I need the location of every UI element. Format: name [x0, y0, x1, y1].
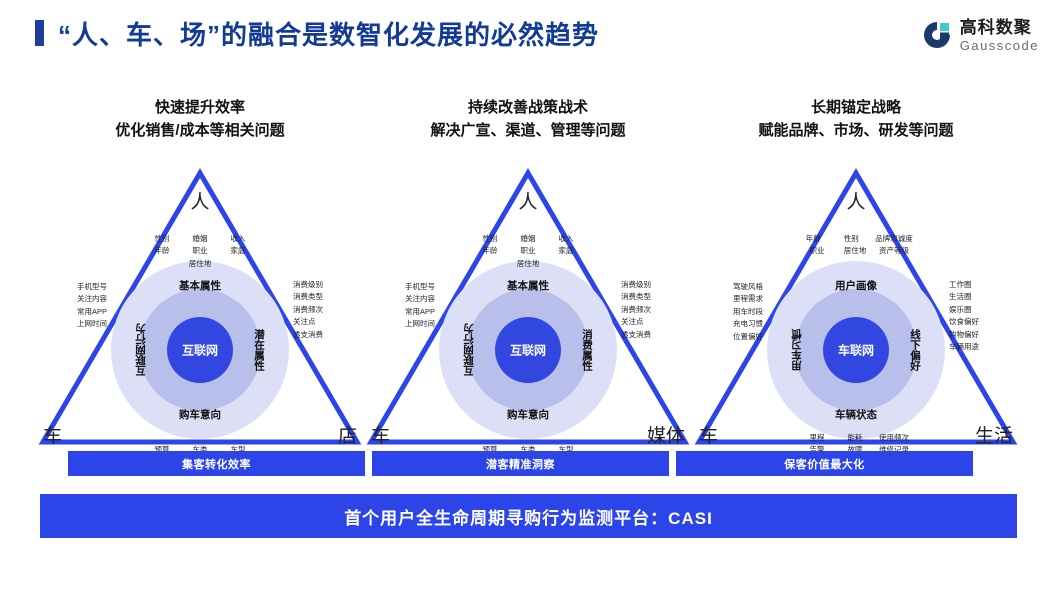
triangle-diagram-1: 人 车 店 互联网 基本属性 购车意向 互联网行为 潜在属性 互联网 性别婚姻收…	[35, 165, 365, 450]
ring-core-label-1: 互联网	[182, 342, 218, 359]
column-heading-2-line1: 持续改善战策战术	[363, 96, 693, 119]
tag-item: 上网时间	[77, 318, 107, 330]
tag-item: 关注内容	[77, 293, 107, 305]
column-heading-2: 持续改善战策战术 解决广宣、渠道、管理等问题	[363, 96, 693, 143]
column-heading-1-line2: 优化销售/成本等相关问题	[35, 119, 365, 142]
triangle-2-corner-top: 人	[518, 187, 537, 214]
tags-right-2: 消费级别消费类型消费频次关注点透支消费	[621, 279, 651, 341]
tag-item: 消费类型	[621, 291, 651, 303]
column-heading-3: 长期锚定战略 赋能品牌、市场、研发等问题	[691, 96, 1021, 143]
tag-item: 年龄	[476, 245, 504, 257]
triangle-1-corner-bottom-right: 店	[338, 421, 357, 448]
outcome-bar-1: 集客转化效率	[68, 451, 365, 476]
tag-item: 上网时间	[405, 318, 435, 330]
page-header: “人、车、场”的融合是数智化发展的必然趋势 高科数聚 Gausscode	[0, 0, 1057, 62]
tag-item: 充电习惯	[733, 318, 763, 330]
tag-item: 手机型号	[405, 281, 435, 293]
tag-item: 性别	[148, 233, 176, 245]
tag-item: 品牌忠诚度	[875, 233, 913, 245]
tag-item: 消费类型	[293, 291, 323, 303]
tag-row: 居住地	[143, 258, 257, 270]
tag-item: 家庭	[224, 245, 252, 257]
gausscode-logo-icon	[921, 19, 953, 51]
tag-item: 里程	[803, 432, 831, 444]
column-heading-3-line1: 长期锚定战略	[691, 96, 1021, 119]
ring-label-left-3: 用车习惯	[789, 329, 804, 371]
tag-item: 消费级别	[621, 279, 651, 291]
concentric-rings-2: 互联网 基本属性 购车意向 互联网行为 消费属性 互联网 性别婚姻收入年龄职业家…	[439, 261, 617, 439]
ring-label-left-2: 互联网行为	[461, 324, 476, 377]
column-heading-1-line1: 快速提升效率	[35, 96, 365, 119]
title-accent-bar	[35, 20, 44, 46]
tag-item: 性别	[476, 233, 504, 245]
tags-top-2: 性别婚姻收入年龄职业家庭居住地	[471, 233, 585, 270]
ring-label-right-1: 潜在属性	[252, 329, 267, 371]
tag-item: 常用APP	[405, 306, 435, 318]
tag-item: 职业	[514, 245, 542, 257]
tags-right-3: 工作圈生活圈娱乐圈饮食偏好购物偏好车辆用途	[949, 279, 979, 353]
triangle-3-corner-top: 人	[846, 187, 865, 214]
column-heading-1: 快速提升效率 优化销售/成本等相关问题	[35, 96, 365, 143]
tag-row: 居住地	[471, 258, 585, 270]
ring-core-label-2: 互联网	[510, 342, 546, 359]
tag-item: 职业	[186, 245, 214, 257]
tag-item: 年龄	[799, 233, 827, 245]
tag-item: 饮食偏好	[949, 316, 979, 328]
tag-row: 年龄职业家庭	[143, 245, 257, 257]
tag-item: 娱乐圈	[949, 304, 979, 316]
tag-row: 职业居住地资产等级	[794, 245, 918, 257]
ring-label-right-3: 线下偏好	[908, 329, 923, 371]
tag-item: 居住地	[514, 258, 542, 270]
tag-item: 关注内容	[405, 293, 435, 305]
tags-left-3: 驾驶风格里程需求用车时段充电习惯位置偏好	[733, 281, 763, 343]
triangle-3-corner-bottom-left: 车	[699, 421, 718, 448]
tag-item: 透支消费	[293, 329, 323, 341]
tag-item: 关注点	[621, 316, 651, 328]
tag-item: 年龄	[148, 245, 176, 257]
tag-item: 能耗	[841, 432, 869, 444]
tag-item: 职业	[803, 245, 831, 257]
tag-item: 使用频次	[879, 432, 909, 444]
column-heading-2-line2: 解决广宣、渠道、管理等问题	[363, 119, 693, 142]
ring-label-left-1: 互联网行为	[133, 324, 148, 377]
ring-label-right-2: 消费属性	[580, 329, 595, 371]
tag-item: 用车时段	[733, 306, 763, 318]
triangle-2-corner-bottom-left: 车	[371, 421, 390, 448]
tag-item: 里程需求	[733, 293, 763, 305]
logo-name-cn: 高科数聚	[960, 19, 1039, 36]
tag-item: 关注点	[293, 316, 323, 328]
tag-item: 消费频次	[621, 304, 651, 316]
tag-item: 家庭	[552, 245, 580, 257]
tag-row: 里程能耗使用频次	[798, 432, 914, 444]
tag-item: 性别	[837, 233, 865, 245]
column-headings: 快速提升效率 优化销售/成本等相关问题 持续改善战策战术 解决广宣、渠道、管理等…	[0, 96, 1057, 152]
logo-name-en: Gausscode	[960, 39, 1039, 52]
ring-label-top-3: 用户画像	[835, 278, 877, 293]
triangle-diagram-2: 人 车 媒体 互联网 基本属性 购车意向 互联网行为 消费属性 互联网 性别婚姻…	[363, 165, 693, 450]
tag-item: 资产等级	[879, 245, 909, 257]
tag-item: 透支消费	[621, 329, 651, 341]
platform-banner: 首个用户全生命周期寻购行为监测平台：CASI	[40, 494, 1017, 538]
outcome-bar-2: 潜客精准洞察	[372, 451, 669, 476]
tag-item: 购物偏好	[949, 329, 979, 341]
tag-item: 驾驶风格	[733, 281, 763, 293]
tag-item: 手机型号	[77, 281, 107, 293]
tags-top-3: 年龄性别品牌忠诚度职业居住地资产等级	[794, 233, 918, 258]
page-title: “人、车、场”的融合是数智化发展的必然趋势	[58, 15, 599, 52]
tag-item: 居住地	[841, 245, 869, 257]
tag-item: 消费频次	[293, 304, 323, 316]
tag-item: 工作圈	[949, 279, 979, 291]
tag-row: 年龄职业家庭	[471, 245, 585, 257]
triangle-1-corner-top: 人	[190, 187, 209, 214]
ring-label-top-1: 基本属性	[179, 278, 221, 293]
tags-right-1: 消费级别消费类型消费频次关注点透支消费	[293, 279, 323, 341]
tag-item: 常用APP	[77, 306, 107, 318]
tag-item: 收入	[552, 233, 580, 245]
brand-logo: 高科数聚 Gausscode	[921, 14, 1039, 56]
tag-item: 位置偏好	[733, 331, 763, 343]
tag-item: 车辆用途	[949, 341, 979, 353]
outcome-bar-3: 保客价值最大化	[676, 451, 973, 476]
ring-label-bottom-2: 购车意向	[507, 407, 549, 422]
tag-row: 性别婚姻收入	[471, 233, 585, 245]
tag-item: 消费级别	[293, 279, 323, 291]
ring-label-top-2: 基本属性	[507, 278, 549, 293]
concentric-rings-3: 车联网 用户画像 车辆状态 用车习惯 线下偏好 车联网 年龄性别品牌忠诚度职业居…	[767, 261, 945, 439]
tag-item: 婚姻	[186, 233, 214, 245]
triangle-diagram-3: 人 车 生活 车联网 用户画像 车辆状态 用车习惯 线下偏好 车联网 年龄性别品…	[691, 165, 1021, 450]
tag-item: 生活圈	[949, 291, 979, 303]
tags-left-2: 手机型号关注内容常用APP上网时间	[405, 281, 435, 331]
tag-item: 收入	[224, 233, 252, 245]
tag-row: 性别婚姻收入	[143, 233, 257, 245]
ring-core-label-3: 车联网	[838, 342, 874, 359]
triangle-1-corner-bottom-left: 车	[43, 421, 62, 448]
ring-label-bottom-1: 购车意向	[179, 407, 221, 422]
tag-item: 居住地	[186, 258, 214, 270]
concentric-rings-1: 互联网 基本属性 购车意向 互联网行为 潜在属性 互联网 性别婚姻收入年龄职业家…	[111, 261, 289, 439]
tag-row: 年龄性别品牌忠诚度	[794, 233, 918, 245]
tags-left-1: 手机型号关注内容常用APP上网时间	[77, 281, 107, 331]
ring-label-bottom-3: 车辆状态	[835, 407, 877, 422]
triangle-3-corner-bottom-right: 生活	[975, 421, 1013, 448]
tags-top-1: 性别婚姻收入年龄职业家庭居住地	[143, 233, 257, 270]
tag-item: 婚姻	[514, 233, 542, 245]
column-heading-3-line2: 赋能品牌、市场、研发等问题	[691, 119, 1021, 142]
triangle-2-corner-bottom-right: 媒体	[647, 421, 685, 448]
